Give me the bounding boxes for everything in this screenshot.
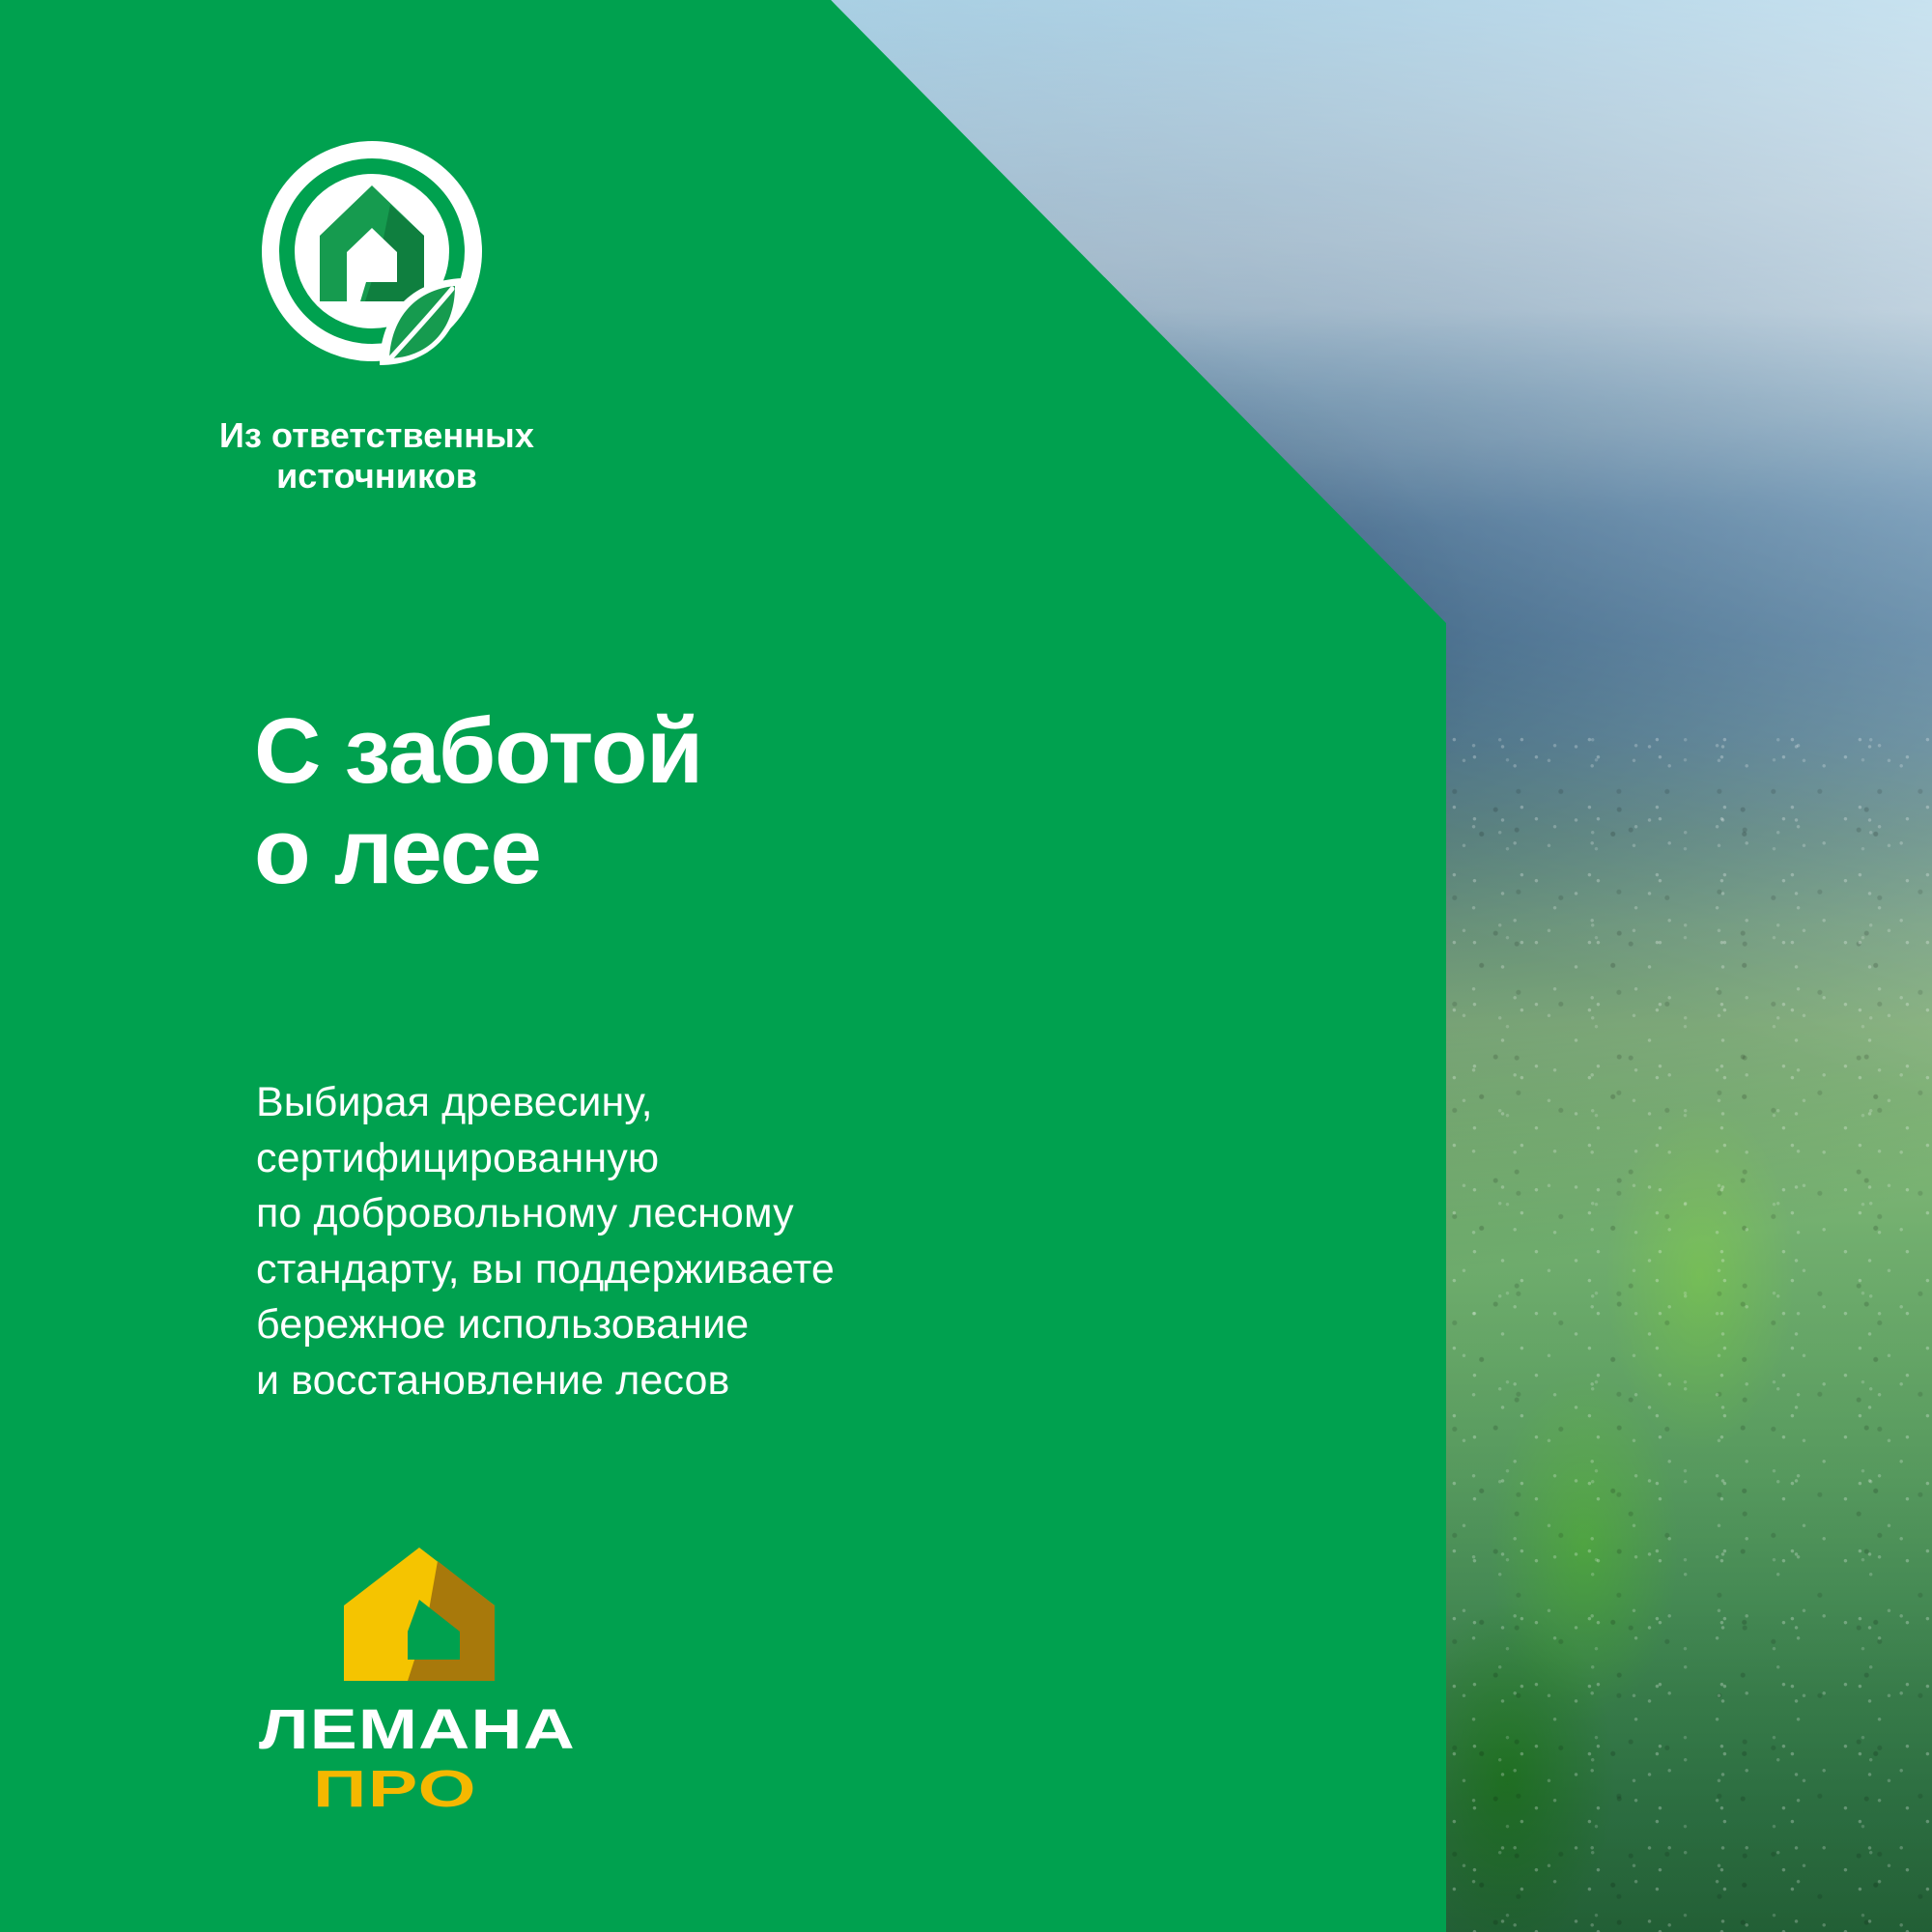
brand-name-secondary: ПРО <box>313 1760 477 1812</box>
page-title: С заботой о лесе <box>254 701 702 901</box>
brand-name-primary: ЛЕМАНА <box>259 1700 576 1761</box>
body-paragraph: Выбирая древесину, сертифицированную по … <box>256 1075 990 1409</box>
poster-content: Из ответственных источников С заботой о … <box>0 0 1932 1932</box>
emblem-caption: Из ответственных источников <box>188 415 565 497</box>
responsible-sourcing-emblem-icon <box>256 135 488 367</box>
lemana-pro-wordmark: ЛЕМАНА ПРО <box>259 1700 591 1812</box>
lemana-pro-house-mark-icon <box>342 1546 497 1690</box>
poster-canvas: Из ответственных источников С заботой о … <box>0 0 1932 1932</box>
brand-lockup: ЛЕМАНА ПРО <box>259 1546 597 1812</box>
